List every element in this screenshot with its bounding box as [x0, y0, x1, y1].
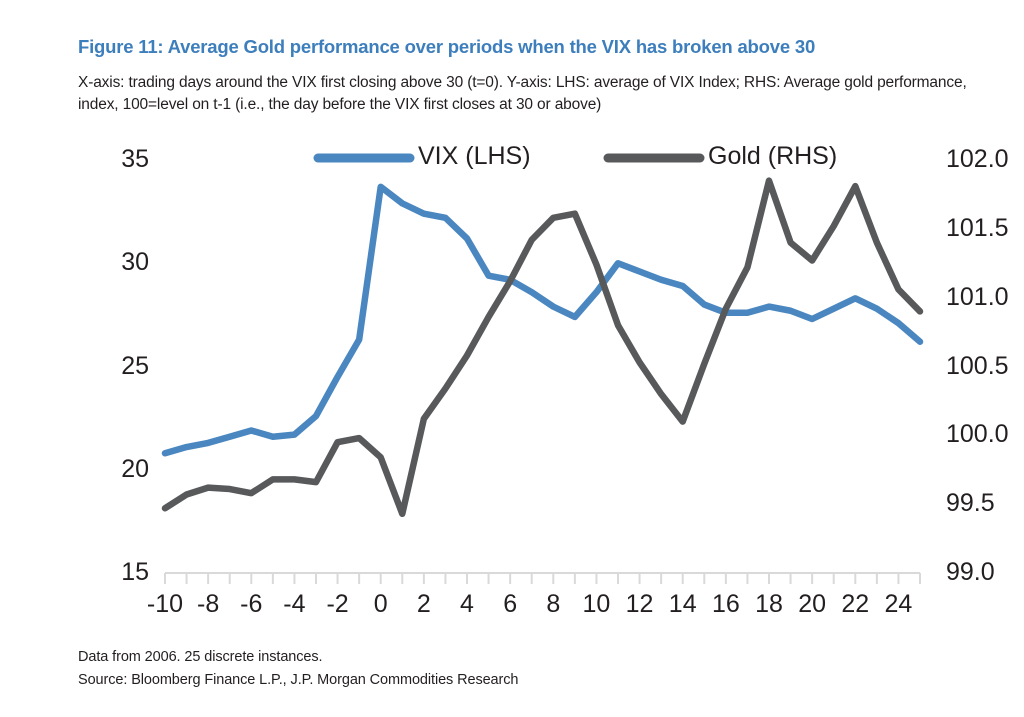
x-axis-tick-label: 22 [832, 592, 878, 617]
y-axis-right-tick-label: 100.0 [946, 422, 1024, 447]
y-axis-left-tick-label: 30 [91, 250, 149, 275]
x-axis-tick-label: 4 [444, 592, 490, 617]
y-axis-right-tick-label: 99.5 [946, 491, 1024, 516]
y-axis-right-tick-label: 102.0 [946, 147, 1024, 172]
x-axis-tick-label: 18 [746, 592, 792, 617]
chart-axis [165, 573, 920, 584]
legend-label-vix: VIX (LHS) [418, 144, 531, 169]
y-axis-right-tick-label: 101.5 [946, 216, 1024, 241]
x-axis-tick-label: 8 [530, 592, 576, 617]
x-axis-tick-label: -2 [315, 592, 361, 617]
x-axis-tick-label: 16 [703, 592, 749, 617]
legend-label-gold: Gold (RHS) [708, 144, 837, 169]
x-axis-tick-label: 20 [789, 592, 835, 617]
y-axis-right-tick-label: 99.0 [946, 560, 1024, 585]
chart-plot-area: 1520253035 99.099.5100.0100.5101.0101.51… [0, 0, 1024, 717]
x-axis-tick-label: -6 [228, 592, 274, 617]
figure-source: Source: Bloomberg Finance L.P., J.P. Mor… [78, 671, 518, 690]
x-axis-tick-label: 24 [875, 592, 921, 617]
figure-container: Figure 11: Average Gold performance over… [0, 0, 1024, 717]
x-axis-tick-label: 6 [487, 592, 533, 617]
y-axis-left-tick-label: 35 [91, 147, 149, 172]
x-axis-tick-label: 2 [401, 592, 447, 617]
x-axis-tick-label: 14 [660, 592, 706, 617]
figure-note: Data from 2006. 25 discrete instances. [78, 648, 322, 667]
x-axis-tick-label: -4 [271, 592, 317, 617]
y-axis-left-tick-label: 15 [91, 560, 149, 585]
series-line-gold [165, 181, 920, 514]
y-axis-left-tick-label: 20 [91, 457, 149, 482]
x-axis-tick-label: -8 [185, 592, 231, 617]
x-axis-tick-label: 0 [358, 592, 404, 617]
x-axis-tick-label: 12 [617, 592, 663, 617]
y-axis-left-tick-label: 25 [91, 354, 149, 379]
y-axis-right-tick-label: 100.5 [946, 354, 1024, 379]
x-axis-tick-label: 10 [573, 592, 619, 617]
chart-series-group [165, 181, 920, 514]
x-axis-tick-label: -10 [142, 592, 188, 617]
y-axis-right-tick-label: 101.0 [946, 285, 1024, 310]
